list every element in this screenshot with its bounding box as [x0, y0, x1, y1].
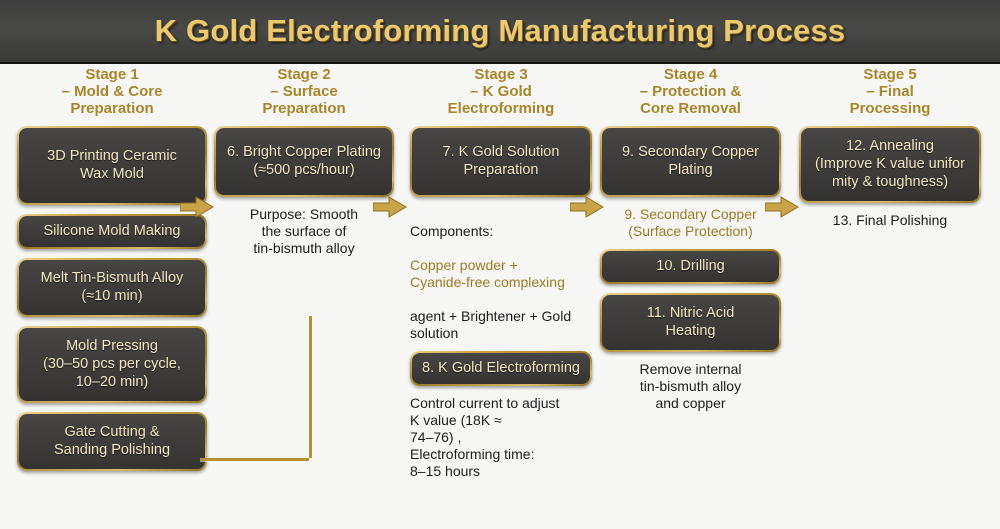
stage-5-heading: Stage 5 – Final Processing — [799, 66, 981, 117]
step-box-label: 8. K Gold Electroforming — [412, 353, 590, 384]
step-box-label: Mold Pressing (30–50 pcs per cycle, 10–2… — [19, 328, 205, 401]
stage-column-3: Stage 3 – K Gold Electroforming 7. K Gol… — [410, 66, 592, 489]
step-box-label: Silicone Mold Making — [19, 216, 205, 247]
step-box-label: Gate Cutting & Sanding Polishing — [19, 414, 205, 469]
diagram-canvas: K Gold Electroforming Manufacturing Proc… — [0, 0, 1000, 529]
stage-4-surface-protection-note: 9. Secondary Copper (Surface Protection) — [600, 206, 781, 240]
components-label: Components: — [410, 223, 493, 239]
stage-2-purpose-note: Purpose: Smooth the surface of tin-bismu… — [214, 206, 394, 257]
stage-1-heading: Stage 1 – Mold & Core Preparation — [17, 66, 207, 117]
step-box-label: 7. K Gold Solution Preparation — [412, 128, 590, 195]
stage-column-1: Stage 1 – Mold & Core Preparation 3D Pri… — [17, 66, 207, 480]
arrow-right-icon-stage3-stage4 — [570, 196, 596, 216]
title-bar: K Gold Electroforming Manufacturing Proc… — [0, 0, 1000, 64]
step-box-label: 11. Nitric Acid Heating — [602, 295, 779, 350]
stage-3-control-note: Control current to adjust K value (18K ≈… — [410, 395, 592, 480]
elbow-connector — [200, 316, 312, 461]
step-box-k-gold-solution-preparation[interactable]: 7. K Gold Solution Preparation — [410, 126, 592, 197]
step-box-drilling[interactable]: 10. Drilling — [600, 249, 781, 284]
stage-3-components-note: Components: Copper powder + Cyanide-free… — [410, 206, 592, 342]
step-box-label: 3D Printing Ceramic Wax Mold — [19, 128, 205, 203]
stage-4-remove-note: Remove internal tin-bismuth alloy and co… — [600, 361, 781, 412]
arrow-right-icon-stage2-stage3 — [373, 196, 399, 216]
stage-4-heading: Stage 4 – Protection & Core Removal — [600, 66, 781, 117]
step-box-annealing[interactable]: 12. Annealing (Improve K value unifor mi… — [799, 126, 981, 203]
stage-column-2: Stage 2 – Surface Preparation 6. Bright … — [214, 66, 394, 266]
components-gold-part: Copper powder + Cyanide-free complexing — [410, 257, 565, 290]
stage-3-heading: Stage 3 – K Gold Electroforming — [410, 66, 592, 117]
step-box-silicone-mold-making[interactable]: Silicone Mold Making — [17, 214, 207, 249]
step-box-gate-cutting-sanding-polishing[interactable]: Gate Cutting & Sanding Polishing — [17, 412, 207, 471]
stage-5-final-polishing-note: 13. Final Polishing — [799, 212, 981, 229]
step-box-label: Melt Tin-Bismuth Alloy (≈10 min) — [19, 260, 205, 315]
step-box-melt-tin-bismuth-alloy[interactable]: Melt Tin-Bismuth Alloy (≈10 min) — [17, 258, 207, 317]
step-box-label: 6. Bright Copper Plating (≈500 pcs/hour) — [216, 128, 392, 195]
stage-2-heading: Stage 2 – Surface Preparation — [214, 66, 394, 117]
step-box-label: 12. Annealing (Improve K value unifor mi… — [801, 128, 979, 201]
stage-column-5: Stage 5 – Final Processing 12. Annealing… — [799, 66, 981, 238]
step-box-mold-pressing[interactable]: Mold Pressing (30–50 pcs per cycle, 10–2… — [17, 326, 207, 403]
step-box-label: 9. Secondary Copper Plating — [602, 128, 779, 195]
step-box-secondary-copper-plating[interactable]: 9. Secondary Copper Plating — [600, 126, 781, 197]
step-box-3d-printing-ceramic-wax-mold[interactable]: 3D Printing Ceramic Wax Mold — [17, 126, 207, 205]
step-box-k-gold-electroforming[interactable]: 8. K Gold Electroforming — [410, 351, 592, 386]
step-box-bright-copper-plating[interactable]: 6. Bright Copper Plating (≈500 pcs/hour) — [214, 126, 394, 197]
components-black-part: agent + Brightener + Gold solution — [410, 308, 571, 341]
step-box-label: 10. Drilling — [602, 251, 779, 282]
stage-column-4: Stage 4 – Protection & Core Removal 9. S… — [600, 66, 781, 421]
arrow-right-icon-stage1-stage2 — [180, 196, 206, 216]
step-box-nitric-acid-heating[interactable]: 11. Nitric Acid Heating — [600, 293, 781, 352]
page-title: K Gold Electroforming Manufacturing Proc… — [155, 13, 846, 49]
arrow-right-icon-stage4-stage5 — [765, 196, 791, 216]
